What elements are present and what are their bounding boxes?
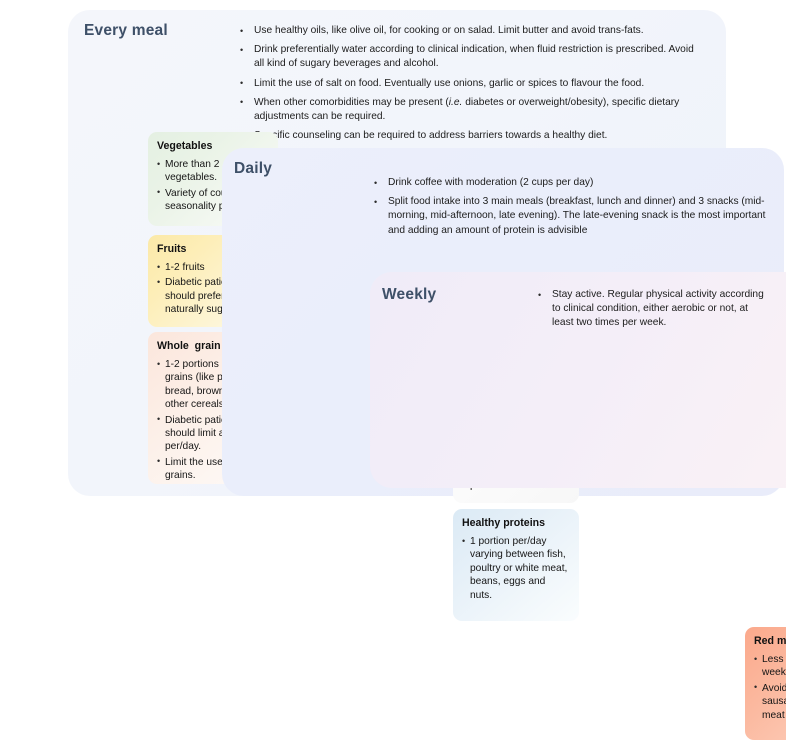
weekly-bullet-list: Stay active. Regular physical activity a… <box>538 288 770 335</box>
daily-bullet-list: Drink coffee with moderation (2 cups per… <box>374 176 776 243</box>
list-item: Drink coffee with moderation (2 cups per… <box>374 176 776 190</box>
panel-weekly: Weekly Stay active. Regular physical act… <box>370 272 786 488</box>
list-item: 1 portion per/day varying between fish, … <box>462 535 570 602</box>
list-item: Use healthy oils, like olive oil, for co… <box>240 24 704 38</box>
diagram-canvas: Every meal Use healthy oils, like olive … <box>0 0 786 505</box>
list-item: Limit the use of salt on food. Eventuall… <box>240 77 704 91</box>
every-meal-bullet-list: Use healthy oils, like olive oil, for co… <box>240 24 704 148</box>
panel-daily: Daily Drink coffee with moderation (2 cu… <box>222 148 784 496</box>
list-item: Split food intake into 3 main meals (bre… <box>374 195 776 238</box>
list-item: Less than 2 portions per week <box>754 653 786 680</box>
card-healthy-proteins: Healthy proteins 1 portion per/day varyi… <box>453 509 579 621</box>
card-healthy-proteins-list: 1 portion per/day varying between fish, … <box>462 535 570 602</box>
bullet-text-prefix: When other comorbidities may be present … <box>254 97 449 108</box>
list-item: Stay active. Regular physical activity a… <box>538 288 770 331</box>
panel-every-meal: Every meal Use healthy oils, like olive … <box>68 10 726 496</box>
list-item: Specific counseling can be required to a… <box>240 129 704 143</box>
list-item: Avoid bacon, cold cuts, sausages and pro… <box>754 682 786 722</box>
panel-weekly-title: Weekly <box>382 286 436 304</box>
bullet-text-italic: i.e. <box>449 97 463 108</box>
card-red-meat-title: Red meat <box>754 635 786 648</box>
card-red-meat: Red meat Less than 2 portions per week A… <box>745 627 786 740</box>
card-red-meat-list: Less than 2 portions per week Avoid baco… <box>754 653 786 722</box>
panel-every-meal-title: Every meal <box>84 22 168 40</box>
card-healthy-proteins-title: Healthy proteins <box>462 517 570 530</box>
list-item: When other comorbidities may be present … <box>240 96 704 124</box>
list-item: Drink preferentially water according to … <box>240 43 704 71</box>
panel-daily-title: Daily <box>234 160 272 178</box>
